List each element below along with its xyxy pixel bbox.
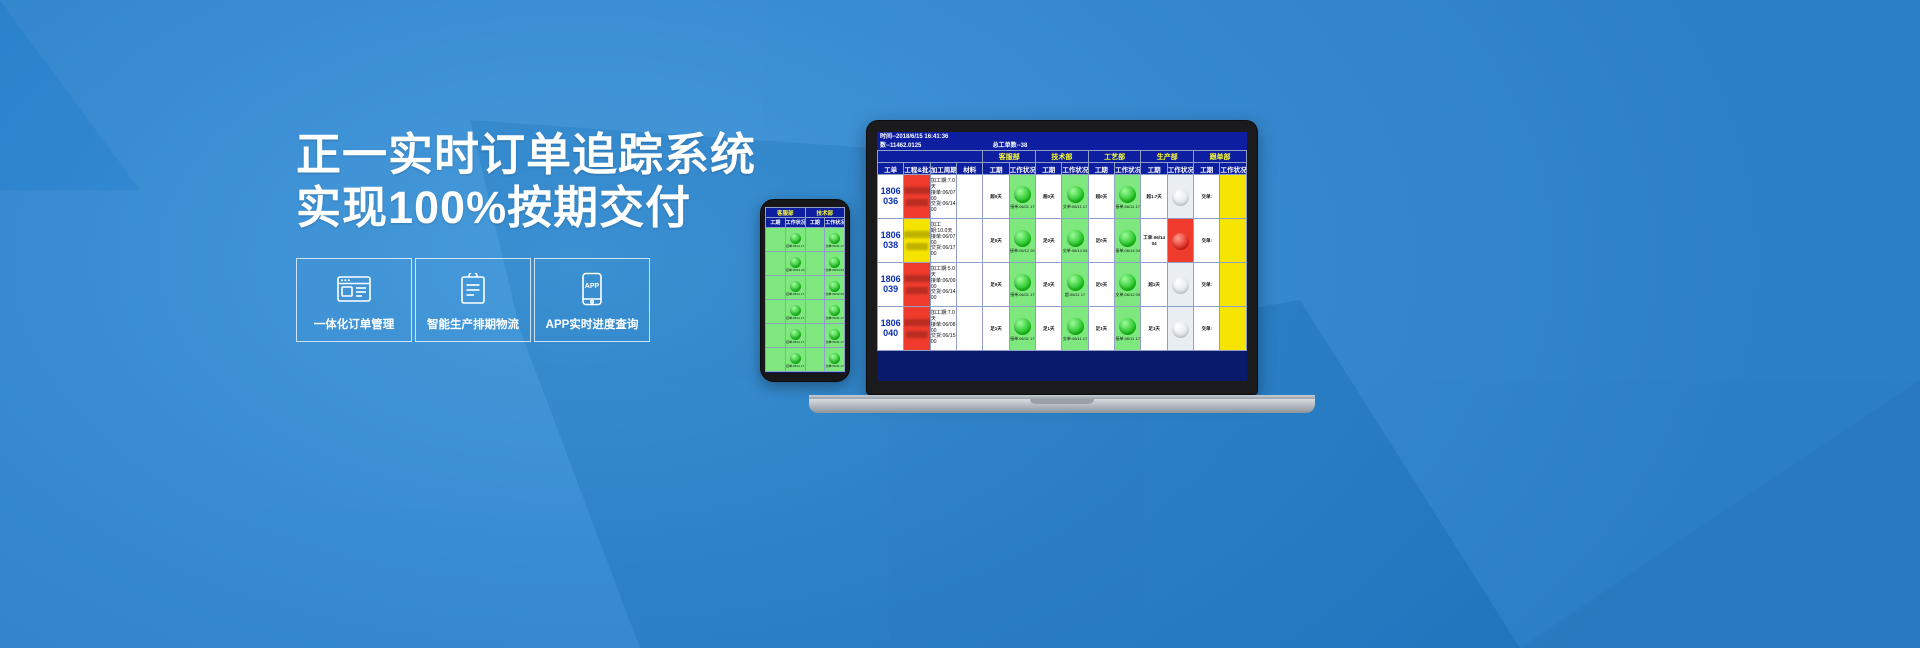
status-tag: 交单:06/11 17	[825, 341, 844, 345]
phone-column-header-1: 工作状况	[785, 218, 805, 228]
phone-dept-header-2: 技术部	[805, 208, 845, 218]
phone-status-cell-right[interactable]: 交单:06/11 17	[825, 324, 845, 348]
status-indicator-green	[829, 305, 840, 316]
phone-duration-cell-left[interactable]	[766, 348, 786, 372]
headline-line-1: 正一实时订单追踪系统	[296, 129, 756, 180]
duration-cell-技术部[interactable]: 足0天	[1036, 219, 1062, 263]
duration-value: 足0天	[990, 282, 1002, 287]
status-tag: 交单:06/11 17	[1062, 336, 1087, 341]
material-cell[interactable]	[957, 307, 983, 351]
duration-cell-技术部[interactable]: 超0天	[1036, 175, 1062, 219]
table-row[interactable]: 1806036加工期:7.0天接单:06/07 00交货:06/14 00超0天…	[878, 175, 1247, 219]
cycle-cell[interactable]: 加工期:7.0天接单:06/07 00交货:06/14 00	[930, 175, 956, 219]
phone-column-header-0: 工期	[766, 218, 786, 228]
batch-cell[interactable]	[904, 219, 930, 263]
duration-cell-跟单部[interactable]: 交单:	[1194, 219, 1220, 263]
banner-stage: 正一实时订单追踪系统 实现100%按期交付	[0, 0, 1920, 648]
svg-text:APP: APP	[585, 283, 600, 290]
dept-header-5: 跟单部	[1194, 151, 1247, 163]
duration-cell-技术部[interactable]: 足1天	[1036, 307, 1062, 351]
dept-header-1: 客服部	[983, 151, 1036, 163]
duration-value: 超0天	[1043, 194, 1055, 199]
status-tag: 接单:06/11 17	[1115, 204, 1140, 209]
order-number-cell[interactable]: 1806040	[878, 307, 904, 351]
cycle-days: 加工期:10.0天	[931, 223, 956, 235]
duration-value: 交单:	[1202, 194, 1213, 199]
table-row[interactable]: 1806040加工期:7.0天接单:06/08 00交货:06/15 00足1天…	[878, 307, 1247, 351]
browser-window-icon	[337, 269, 371, 309]
cycle-cell[interactable]: 加工期:5.0天接单:06/09 00交货:06/14 00	[930, 263, 956, 307]
duration-cell-跟单部[interactable]: 交单:	[1194, 263, 1220, 307]
duration-value: 足1天	[1043, 326, 1055, 331]
status-cell-跟单部[interactable]	[1220, 263, 1247, 307]
column-header-工程&批次: 工程&批次	[904, 163, 930, 175]
duration-value: 超1天	[1148, 282, 1160, 287]
status-cell-生产部[interactable]	[1167, 219, 1193, 263]
column-header-工艺部-工作状况: 工作状况	[1115, 163, 1141, 175]
status-tag: 接单:06/11 17	[1010, 204, 1035, 209]
status-indicator-green	[1014, 186, 1031, 203]
status-indicator-green	[829, 353, 840, 364]
status-cell-工艺部[interactable]: 接单:06/11 17	[1115, 307, 1141, 351]
status-tag: 接单:06/11 17	[1010, 292, 1035, 297]
material-cell[interactable]	[957, 175, 983, 219]
duration-cell-生产部[interactable]: 超1天	[1141, 263, 1167, 307]
dashboard-status-bar-2: 数--11462.0125 总工单数--38	[877, 141, 1247, 150]
status-cell-客服部[interactable]: 接单:06/12 20	[1009, 219, 1035, 263]
column-header-工单: 工单	[878, 163, 904, 175]
duration-cell-客服部[interactable]: 足0天	[983, 219, 1009, 263]
phone-duration-cell-right[interactable]	[805, 252, 825, 276]
status-indicator-green	[790, 281, 801, 292]
status-indicator-green	[790, 353, 801, 364]
status-cell-工艺部[interactable]: 接单:06/14 04	[1115, 219, 1141, 263]
status-cell-技术部[interactable]: 交单:06/11 17	[1062, 175, 1088, 219]
dept-header-2: 技术部	[1036, 151, 1089, 163]
status-tag: 接单:06/14 04	[1115, 248, 1140, 253]
status-indicator-green	[1119, 186, 1136, 203]
status-tag: 接单:06/11 17	[786, 365, 805, 369]
order-number-cell[interactable]: 1806039	[878, 263, 904, 307]
duration-cell-生产部[interactable]: 超1.7天	[1141, 175, 1167, 219]
laptop-mockup: 时间--2018/6/15 16:41:36 数--11462.0125 总工单…	[866, 120, 1315, 413]
status-tag: 交单:06/11 17	[825, 365, 844, 369]
table-row[interactable]: 1806039加工期:5.0天接单:06/09 00交货:06/14 00足0天…	[878, 263, 1247, 307]
order-number-bottom: 036	[878, 197, 903, 206]
phone-duration-cell-left[interactable]	[766, 276, 786, 300]
phone-duration-cell-left[interactable]	[766, 324, 786, 348]
status-tag: 交单:06/11 17	[825, 245, 844, 249]
column-header-加工周期: 加工周期	[930, 163, 956, 175]
dashboard-status-bar: 时间--2018/6/15 16:41:36	[877, 132, 1247, 141]
status-tag: 接单:06/11 17	[786, 293, 805, 297]
phone-duration-cell-left[interactable]	[766, 228, 786, 252]
status-cell-技术部[interactable]: 交单:06/11 17	[1062, 307, 1088, 351]
status-cell-跟单部[interactable]	[1220, 307, 1247, 351]
phone-duration-cell-right[interactable]	[805, 300, 825, 324]
dashboard-table[interactable]: 客服部技术部工艺部生产部跟单部工单工程&批次加工周期材料工期工作状况工期工作状况…	[877, 150, 1247, 351]
status-indicator-green	[1014, 230, 1031, 247]
column-header-工艺部-工期: 工期	[1088, 163, 1114, 175]
phone-duration-cell-right[interactable]	[805, 276, 825, 300]
status-indicator-green	[829, 329, 840, 340]
status-indicator-green	[790, 233, 801, 244]
phone-body: 客服部技术部工期工作状况工期工作状况接单:06/11 17交单:06/11 17…	[760, 199, 850, 382]
duration-cell-工艺部[interactable]: 足0天	[1088, 219, 1114, 263]
duration-cell-工艺部[interactable]: 足1天	[1088, 307, 1114, 351]
status-cell-客服部[interactable]: 接单:06/11 17	[1009, 263, 1035, 307]
column-header-技术部-工期: 工期	[1036, 163, 1062, 175]
phone-duration-cell-right[interactable]	[805, 324, 825, 348]
batch-cell[interactable]	[904, 175, 930, 219]
phone-column-header-3: 工作状况	[825, 218, 845, 228]
status-cell-客服部[interactable]: 接单:06/11 17	[1009, 307, 1035, 351]
feature-label: APP实时进度查询	[546, 316, 639, 332]
duration-value: 足0天	[1096, 282, 1108, 287]
phone-status-cell-left[interactable]: 接单:06/11 17	[785, 228, 805, 252]
duration-cell-客服部[interactable]: 足1天	[983, 307, 1009, 351]
phone-table-row[interactable]: 接单:06/11 17交单:06/11 17	[766, 324, 845, 348]
status-cell-生产部[interactable]	[1167, 307, 1193, 351]
feature-card-production-scheduling[interactable]: 智能生产排期物流	[415, 258, 531, 342]
laptop-base	[809, 399, 1315, 413]
dept-header-3: 工艺部	[1088, 151, 1141, 163]
cycle-days: 加工期:5.0天	[931, 267, 956, 279]
duration-value: 足1天	[1148, 326, 1160, 331]
duration-value: 足0天	[990, 238, 1002, 243]
column-header-跟单部-工期: 工期	[1194, 163, 1220, 175]
phone-notch	[790, 201, 820, 206]
status-indicator-green	[1067, 186, 1084, 203]
phone-table-row[interactable]: 接单:06/11 17交单:06/11 17	[766, 228, 845, 252]
status-cell-工艺部[interactable]: 接单:06/11 17	[1115, 175, 1141, 219]
phone-status-cell-right[interactable]: 交单:06/11 17	[825, 300, 845, 324]
phone-status-cell-left[interactable]: 接单:06/12 20	[785, 252, 805, 276]
duration-cell-技术部[interactable]: 足0天	[1036, 263, 1062, 307]
duration-value: 足0天	[1096, 238, 1108, 243]
column-header-材料: 材料	[957, 163, 983, 175]
phone-duration-cell-left[interactable]	[766, 252, 786, 276]
status-indicator-green	[829, 257, 840, 268]
column-header-生产部-工作状况: 工作状况	[1167, 163, 1193, 175]
order-number-cell[interactable]: 1806036	[878, 175, 904, 219]
phone-status-cell-right[interactable]: 交单:06/11 17	[825, 228, 845, 252]
duration-value: 足0天	[1043, 238, 1055, 243]
column-header-技术部-工作状况: 工作状况	[1062, 163, 1088, 175]
cycle-due: 交货:06/14 00	[931, 202, 956, 214]
status-indicator-grey	[1172, 321, 1189, 338]
status-tag: 交单:06/11 17	[825, 317, 844, 321]
duration-value: 超0天	[1096, 194, 1108, 199]
duration-value: 工单:06/14 04	[1143, 235, 1165, 246]
order-number-cell[interactable]: 1806038	[878, 219, 904, 263]
phone-duration-cell-right[interactable]	[805, 348, 825, 372]
status-tag: 超:06/11 17	[1062, 292, 1087, 297]
column-header-客服部-工期: 工期	[983, 163, 1009, 175]
duration-cell-生产部[interactable]: 工单:06/14 04	[1141, 219, 1167, 263]
status-indicator-grey	[1172, 189, 1189, 206]
status-tag: 交单:06/11 17	[1062, 204, 1087, 209]
phone-status-cell-left[interactable]: 接单:06/11 17	[785, 300, 805, 324]
status-indicator-green	[1119, 318, 1136, 335]
status-indicator-green	[1067, 274, 1084, 291]
status-indicator-green	[1119, 230, 1136, 247]
column-header-生产部-工期: 工期	[1141, 163, 1167, 175]
phone-table-row[interactable]: 接单:06/11 17交单:06/12 09	[766, 276, 845, 300]
laptop-screen[interactable]: 时间--2018/6/15 16:41:36 数--11462.0125 总工单…	[877, 132, 1247, 381]
phone-duration-cell-right[interactable]	[805, 228, 825, 252]
status-cell-生产部[interactable]	[1167, 175, 1193, 219]
status-tag: 接单:06/12 20	[786, 269, 805, 273]
status-tag: 交单:06/12 09	[825, 293, 844, 297]
duration-cell-跟单部[interactable]: 交单:	[1194, 307, 1220, 351]
status-tag: 交单:06/14 04	[825, 269, 844, 273]
status-code: 数--11462.0125	[877, 141, 959, 150]
status-tag: 接单:06/11 17	[1010, 336, 1035, 341]
clipboard-icon	[458, 269, 488, 309]
phone-column-header-2: 工期	[805, 218, 825, 228]
laptop-lid: 时间--2018/6/15 16:41:36 数--11462.0125 总工单…	[866, 120, 1258, 395]
phone-status-cell-right[interactable]: 交单:06/14 04	[825, 252, 845, 276]
duration-cell-生产部[interactable]: 足1天	[1141, 307, 1167, 351]
status-indicator-green	[790, 329, 801, 340]
phone-table-row[interactable]: 接单:06/11 17交单:06/11 17	[766, 300, 845, 324]
feature-card-app-progress-query[interactable]: APP APP实时进度查询	[534, 258, 650, 342]
duration-cell-客服部[interactable]: 足0天	[983, 263, 1009, 307]
status-cell-技术部[interactable]: 超:06/11 17	[1062, 263, 1088, 307]
duration-value: 交单:	[1202, 326, 1213, 331]
status-tag: 交单:06/12 09	[1115, 292, 1140, 297]
total-orders: 总工单数--38	[959, 141, 1061, 150]
status-cell-工艺部[interactable]: 交单:06/12 09	[1115, 263, 1141, 307]
phone-table-row[interactable]: 接单:06/11 17交单:06/11 17	[766, 348, 845, 372]
cycle-cell[interactable]: 加工期:10.0天接单:06/07 00交货:06/17 00	[930, 219, 956, 263]
cycle-cell[interactable]: 加工期:7.0天接单:06/08 00交货:06/15 00	[930, 307, 956, 351]
phone-dashboard-table[interactable]: 客服部技术部工期工作状况工期工作状况接单:06/11 17交单:06/11 17…	[765, 207, 845, 372]
order-number-bottom: 040	[878, 329, 903, 338]
dashboard-dept-header-row: 客服部技术部工艺部生产部跟单部	[878, 151, 1247, 163]
cycle-days: 加工期:7.0天	[931, 179, 956, 191]
status-indicator-green	[1014, 318, 1031, 335]
dashboard-column-header-row: 工单工程&批次加工周期材料工期工作状况工期工作状况工期工作状况工期工作状况工期工…	[878, 163, 1247, 175]
status-indicator-green	[790, 305, 801, 316]
duration-value: 足0天	[1043, 282, 1055, 287]
status-cell-生产部[interactable]	[1167, 263, 1193, 307]
status-cell-跟单部[interactable]	[1220, 175, 1247, 219]
dept-header-4: 生产部	[1141, 151, 1194, 163]
feature-label: 一体化订单管理	[314, 316, 395, 332]
table-row[interactable]: 1806038加工期:10.0天接单:06/07 00交货:06/17 00足0…	[878, 219, 1247, 263]
duration-cell-客服部[interactable]: 超0天	[983, 175, 1009, 219]
status-tag: 交单:06/14 04	[1062, 248, 1087, 253]
status-cell-客服部[interactable]: 接单:06/11 17	[1009, 175, 1035, 219]
status-indicator-red	[1172, 233, 1189, 250]
duration-cell-工艺部[interactable]: 足0天	[1088, 263, 1114, 307]
status-indicator-green	[829, 281, 840, 292]
material-cell[interactable]	[957, 263, 983, 307]
duration-cell-工艺部[interactable]: 超0天	[1088, 175, 1114, 219]
phone-status-cell-left[interactable]: 接单:06/11 17	[785, 276, 805, 300]
status-tag: 接单:06/11 17	[786, 341, 805, 345]
column-header-客服部-工作状况: 工作状况	[1009, 163, 1035, 175]
column-header-跟单部-工作状况: 工作状况	[1220, 163, 1247, 175]
duration-value: 超0天	[990, 194, 1002, 199]
duration-value: 交单:	[1202, 282, 1213, 287]
phone-status-cell-right[interactable]: 交单:06/11 17	[825, 348, 845, 372]
phone-dept-header-row: 客服部技术部	[766, 208, 845, 218]
status-tag: 接单:06/12 20	[1010, 248, 1035, 253]
status-time: 时间--2018/6/15 16:41:36	[877, 132, 1011, 141]
material-cell[interactable]	[957, 219, 983, 263]
status-cell-技术部[interactable]: 交单:06/14 04	[1062, 219, 1088, 263]
status-tag: 接单:06/11 17	[786, 317, 805, 321]
status-indicator-green	[790, 257, 801, 268]
status-indicator-green	[1067, 230, 1084, 247]
mobile-app-icon: APP	[580, 269, 604, 309]
status-cell-跟单部[interactable]	[1220, 219, 1247, 263]
phone-screen[interactable]: 客服部技术部工期工作状况工期工作状况接单:06/11 17交单:06/11 17…	[765, 207, 845, 373]
phone-duration-cell-left[interactable]	[766, 300, 786, 324]
status-indicator-green	[1067, 318, 1084, 335]
cycle-due: 交货:06/17 00	[931, 246, 956, 258]
feature-label: 智能生产排期物流	[427, 316, 519, 332]
order-number-bottom: 039	[878, 285, 903, 294]
cycle-due: 交货:06/14 00	[931, 290, 956, 302]
status-tag: 接单:06/11 17	[786, 245, 805, 249]
batch-cell[interactable]	[904, 307, 930, 351]
duration-value: 超1.7天	[1146, 194, 1161, 199]
status-tag: 接单:06/11 17	[1115, 336, 1140, 341]
status-indicator-green	[829, 233, 840, 244]
phone-column-header-row: 工期工作状况工期工作状况	[766, 218, 845, 228]
phone-mockup: 客服部技术部工期工作状况工期工作状况接单:06/11 17交单:06/11 17…	[760, 199, 850, 382]
batch-cell[interactable]	[904, 263, 930, 307]
phone-table-row[interactable]: 接单:06/12 20交单:06/14 04	[766, 252, 845, 276]
phone-status-cell-left[interactable]: 接单:06/11 17	[785, 324, 805, 348]
order-number-bottom: 038	[878, 241, 903, 250]
duration-value: 足1天	[1096, 326, 1108, 331]
cycle-days: 加工期:7.0天	[931, 311, 956, 323]
phone-dept-header-1: 客服部	[766, 208, 806, 218]
phone-status-cell-left[interactable]: 接单:06/11 17	[785, 348, 805, 372]
status-indicator-green	[1119, 274, 1136, 291]
status-indicator-green	[1014, 274, 1031, 291]
cycle-due: 交货:06/15 00	[931, 334, 956, 346]
feature-card-order-management[interactable]: 一体化订单管理	[296, 258, 412, 342]
phone-status-cell-right[interactable]: 交单:06/12 09	[825, 276, 845, 300]
duration-cell-跟单部[interactable]: 交单:	[1194, 175, 1220, 219]
duration-value: 交单:	[1202, 238, 1213, 243]
duration-value: 足1天	[990, 326, 1002, 331]
status-indicator-grey	[1172, 277, 1189, 294]
